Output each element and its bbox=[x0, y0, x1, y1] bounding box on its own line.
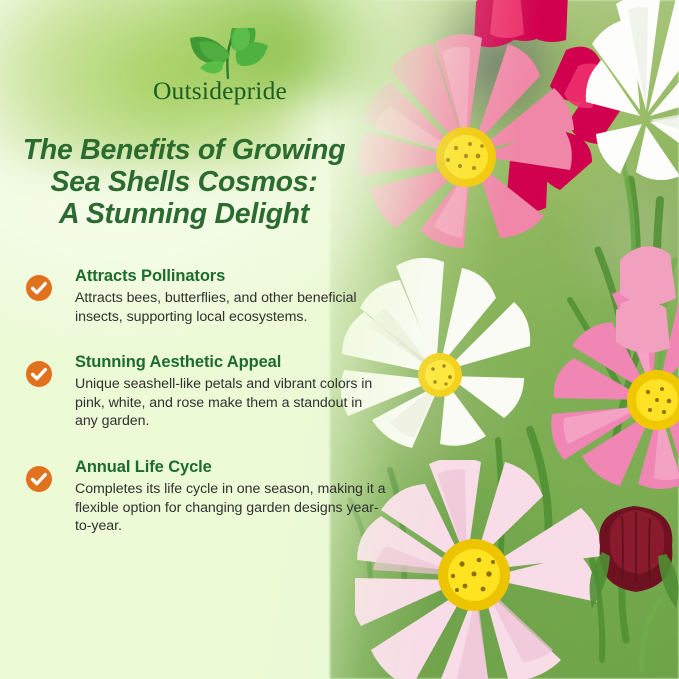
page-title: The Benefits of Growing Sea Shells Cosmo… bbox=[0, 134, 368, 230]
headline-line-2: Sea Shells Cosmos: bbox=[0, 166, 368, 198]
brand-name: Outsidepride bbox=[140, 76, 300, 106]
brand-logo[interactable]: Outsidepride bbox=[140, 30, 300, 108]
headline-line-1: The Benefits of Growing bbox=[0, 134, 368, 166]
leaf-sprout-icon bbox=[184, 28, 270, 80]
infographic-poster: Outsidepride The Benefits of Growing Sea… bbox=[0, 0, 679, 679]
check-circle-icon bbox=[26, 466, 52, 492]
benefit-title: Attracts Pollinators bbox=[75, 266, 386, 286]
benefits-list: Attracts Pollinators Attracts bees, butt… bbox=[26, 266, 386, 562]
benefit-item: Stunning Aesthetic Appeal Unique seashel… bbox=[26, 352, 386, 431]
benefit-body: Completes its life cycle in one season, … bbox=[75, 480, 386, 536]
benefit-item: Attracts Pollinators Attracts bees, butt… bbox=[26, 266, 386, 326]
benefit-item: Annual Life Cycle Completes its life cyc… bbox=[26, 457, 386, 536]
benefit-body: Unique seashell-like petals and vibrant … bbox=[75, 375, 386, 431]
benefit-title: Annual Life Cycle bbox=[75, 457, 386, 477]
benefit-body: Attracts bees, butterflies, and other be… bbox=[75, 289, 386, 326]
content-panel: Outsidepride The Benefits of Growing Sea… bbox=[0, 0, 400, 679]
benefit-title: Stunning Aesthetic Appeal bbox=[75, 352, 386, 372]
headline-line-3: A Stunning Delight bbox=[0, 198, 368, 230]
check-circle-icon bbox=[26, 361, 52, 387]
check-circle-icon bbox=[26, 275, 52, 301]
